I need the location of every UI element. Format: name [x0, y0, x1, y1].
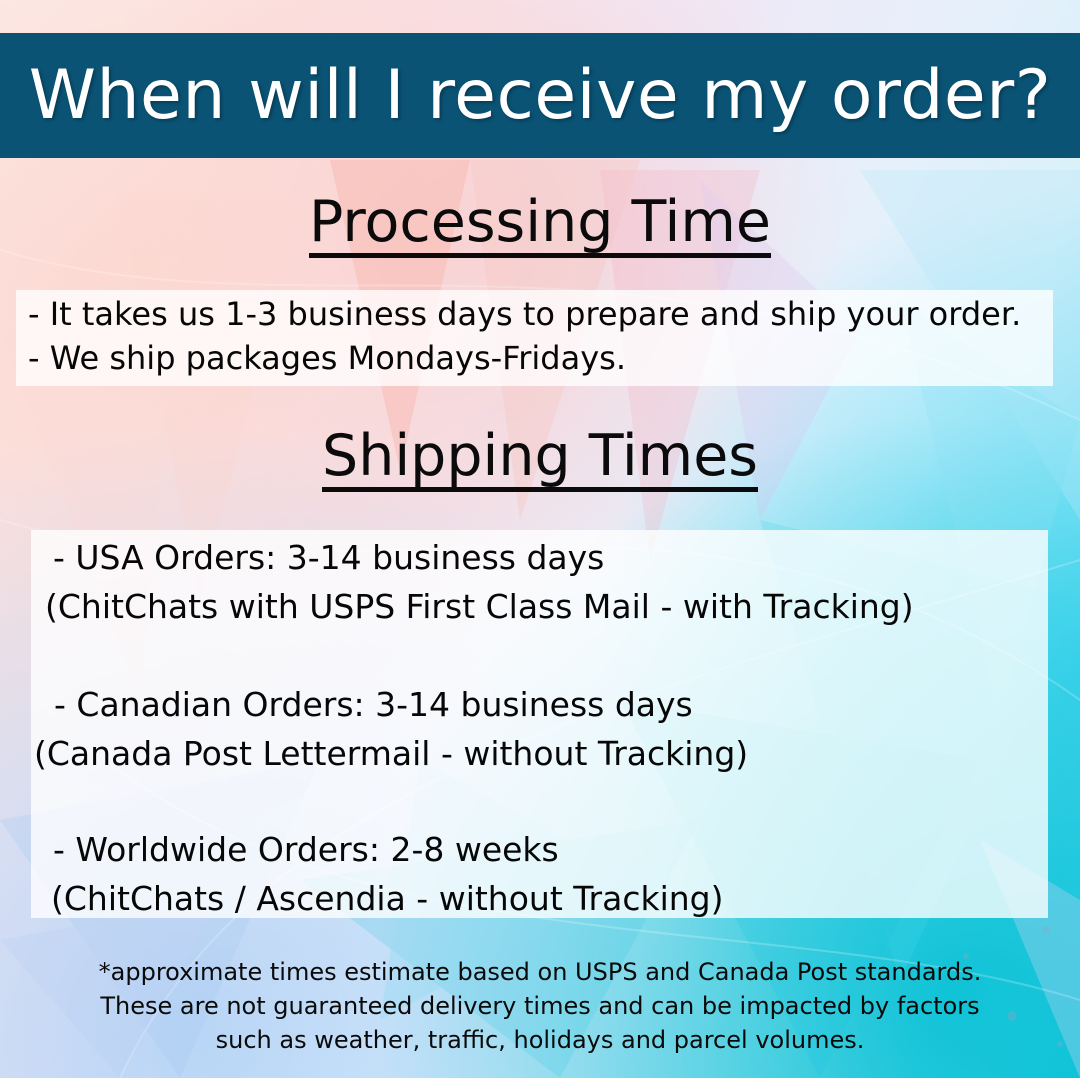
shipping-times-text-block: - USA Orders: 3-14 business days (ChitCh… — [31, 530, 1048, 918]
footnote-line-3: such as weather, traffic, holidays and p… — [0, 1023, 1080, 1057]
processing-line-1: - It takes us 1-3 business days to prepa… — [16, 292, 1053, 336]
shipping-usa-line-1: - USA Orders: 3-14 business days — [31, 533, 1048, 582]
section-heading-processing-time: Processing Time — [0, 194, 1080, 258]
shipping-worldwide-line-1: - Worldwide Orders: 2-8 weeks — [31, 825, 1048, 874]
header-banner: When will I receive my order? — [0, 33, 1080, 158]
shipping-canada-line-1: - Canadian Orders: 3-14 business days — [31, 680, 1048, 729]
footnote-line-1: *approximate times estimate based on USP… — [0, 955, 1080, 989]
shipping-worldwide-line-2: (ChitChats / Ascendia - without Tracking… — [31, 874, 1048, 923]
section-heading-shipping-times-label: Shipping Times — [322, 428, 758, 492]
shipping-group-worldwide: - Worldwide Orders: 2-8 weeks (ChitChats… — [31, 825, 1048, 923]
processing-line-2: - We ship packages Mondays-Fridays. — [16, 336, 1053, 380]
page-title: When will I receive my order? — [29, 62, 1052, 130]
shipping-group-canada: - Canadian Orders: 3-14 business days (C… — [31, 680, 1048, 778]
footnote-disclaimer: *approximate times estimate based on USP… — [0, 955, 1080, 1057]
section-heading-processing-time-label: Processing Time — [309, 194, 771, 258]
processing-time-text-block: - It takes us 1-3 business days to prepa… — [16, 290, 1053, 386]
shipping-canada-line-2: (Canada Post Lettermail - without Tracki… — [31, 729, 1048, 778]
shipping-group-usa: - USA Orders: 3-14 business days (ChitCh… — [31, 533, 1048, 631]
footnote-line-2: These are not guaranteed delivery times … — [0, 989, 1080, 1023]
shipping-usa-line-2: (ChitChats with USPS First Class Mail - … — [31, 582, 1048, 631]
section-heading-shipping-times: Shipping Times — [0, 428, 1080, 492]
shipping-info-poster: When will I receive my order? Processing… — [0, 0, 1080, 1078]
